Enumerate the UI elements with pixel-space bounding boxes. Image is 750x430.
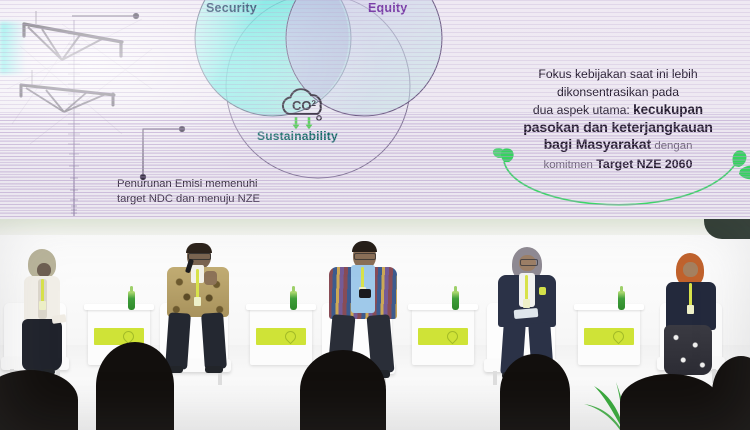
panelist-3-phone — [359, 289, 371, 298]
caption-right-line6-normal: komitmen — [544, 159, 593, 171]
panelist-3-hair — [352, 241, 377, 252]
co2-superscript: 2 — [312, 99, 317, 108]
panelist-1-papers — [52, 314, 67, 324]
caption-right-line5-bold: bagi Masyarakat — [544, 137, 651, 153]
audience-head-5 — [620, 374, 720, 430]
side-table-panel-2 — [256, 328, 307, 345]
bottle-2 — [290, 291, 297, 310]
caption-left-line2: target NDC dan menuju NZE — [117, 192, 332, 207]
leaf-logo-mark — [283, 329, 299, 345]
caption-right-line3-normal: dua aspek utama: — [533, 103, 630, 117]
caption-right-line6-bold: Target NZE 2060 — [596, 157, 692, 171]
caption-right-line2: dikonsentrasikan pada — [498, 84, 738, 102]
panelist-3-glasses — [354, 253, 376, 260]
caption-right-line5-normal: dengan — [654, 140, 692, 152]
screenshot-root: Security Equity Sustainability CO2 — [0, 0, 750, 430]
panelist-2-leg-right — [201, 312, 227, 369]
panelist-4-glasses — [520, 259, 538, 266]
audience-head-4 — [500, 354, 570, 430]
venn-label-security: Security — [206, 1, 257, 15]
bottle-4 — [618, 291, 625, 310]
leaf-logo-mark — [611, 329, 627, 345]
panelist-2-hair — [186, 243, 212, 253]
side-table-4 — [578, 309, 640, 365]
panelist-2-hand — [204, 271, 217, 285]
panelist-4-pin — [539, 287, 546, 295]
caption-right-line3-bold: kecukupan — [633, 102, 703, 117]
side-table-panel-3 — [418, 328, 469, 345]
panelist-3-lanyard — [361, 267, 364, 289]
projected-slide: Security Equity Sustainability CO2 — [0, 0, 750, 219]
panelist-4-badge — [523, 299, 530, 308]
panelist-2-leg-left — [165, 312, 191, 369]
panelist-1-face — [37, 263, 51, 277]
side-table-3 — [412, 309, 474, 365]
caption-left-line1: Penurunan Emisi memenuhi — [117, 177, 332, 192]
side-table-panel-4 — [584, 328, 635, 345]
panelist-4-lanyard — [525, 275, 528, 301]
side-table-2 — [250, 309, 312, 365]
panelist-2-lanyard — [196, 269, 199, 299]
bottle-3 — [452, 291, 459, 310]
leaf-logo-mark — [445, 329, 461, 345]
panelist-5-face — [683, 262, 698, 277]
audience-head-3 — [300, 350, 386, 430]
co2-cloud-icon: CO2 — [272, 88, 336, 134]
panelist-2 — [165, 243, 245, 403]
stage-photo — [0, 219, 750, 430]
stage-top-green-band — [0, 219, 750, 235]
panelist-1-skirt — [22, 319, 62, 371]
panelist-1-badge — [39, 301, 46, 310]
panelist-1-lanyard — [41, 279, 44, 303]
panelist-2-badge — [194, 297, 201, 306]
venn-label-equity: Equity — [368, 1, 407, 15]
bottle-1 — [128, 291, 135, 310]
panelist-5-lanyard — [689, 283, 692, 307]
panelist-5-badge — [687, 305, 694, 314]
caption-left: Penurunan Emisi memenuhi target NDC dan … — [117, 177, 332, 207]
svg-text:CO2: CO2 — [292, 98, 317, 113]
panelist-2-shoe-right — [205, 366, 223, 373]
caption-right: Fokus kebijakan saat ini lebih dikonsent… — [498, 66, 738, 174]
co2-text: CO — [292, 98, 312, 113]
caption-right-line4: pasokan dan keterjangkauan — [498, 120, 738, 138]
audience-head-2 — [96, 342, 174, 430]
caption-right-line1: Fokus kebijakan saat ini lebih — [498, 66, 738, 84]
